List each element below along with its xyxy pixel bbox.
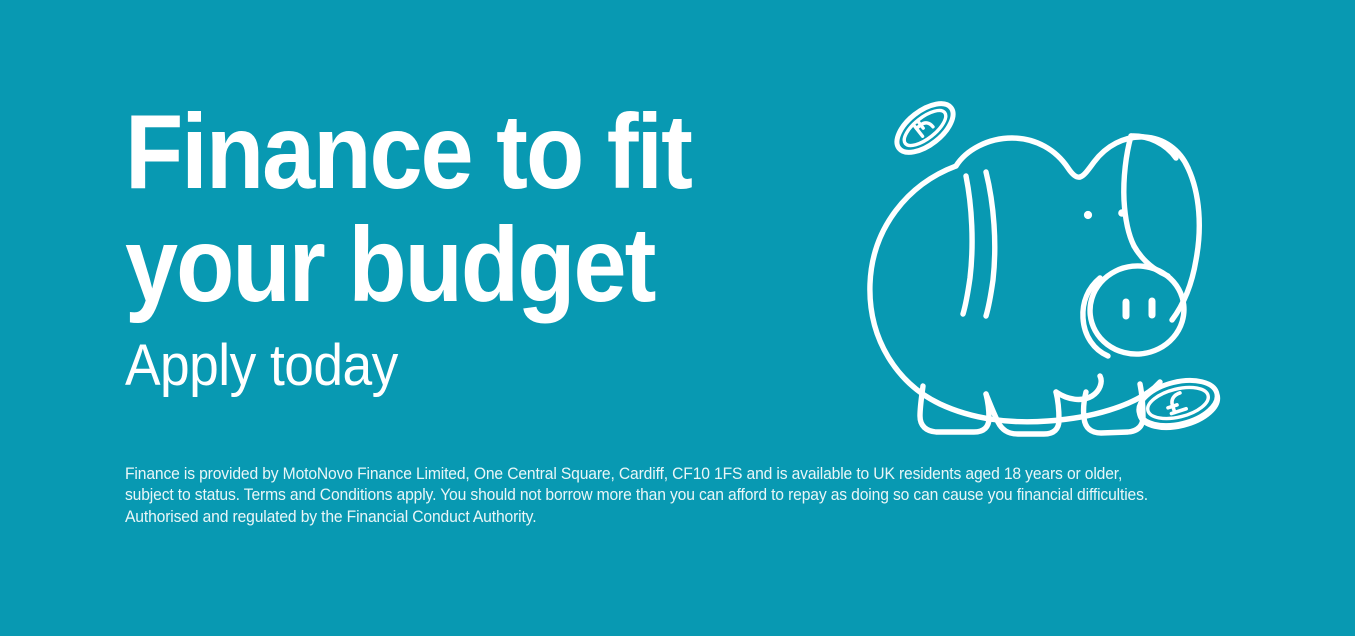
coin-bottom-right-icon (1134, 373, 1222, 435)
disclaimer-text: Finance is provided by MotoNovo Finance … (125, 464, 1162, 528)
finance-promo-banner: Finance to fit your budget Apply today F… (0, 0, 1355, 636)
pig-tail (1056, 376, 1101, 399)
pig-body-outline (870, 161, 1180, 422)
pig-eyes (1084, 209, 1126, 219)
pig-nostrils (1126, 301, 1152, 316)
coin-top-left-icon (889, 94, 962, 161)
piggy-bank-illustration (860, 88, 1230, 448)
